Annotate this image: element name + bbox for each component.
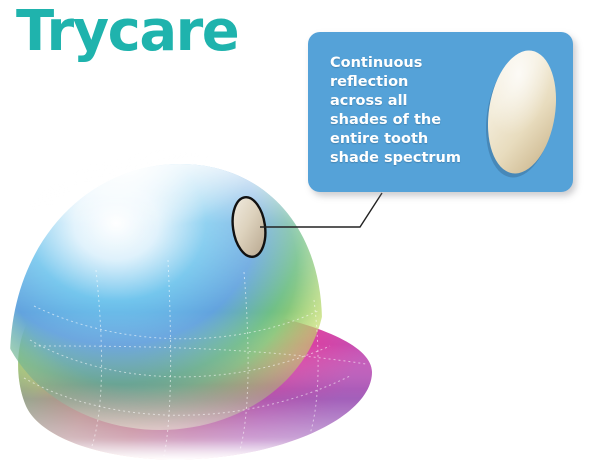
callout-panel: Continuous reflection across all shades … [308, 32, 573, 192]
callout-text: Continuous reflection across all shades … [330, 54, 480, 168]
surface-sample-marker [228, 193, 270, 261]
gamut-upper-dome [10, 150, 322, 433]
poster-canvas: Trycare [0, 0, 600, 471]
brand-logo: Trycare [16, 4, 238, 60]
tooth-shade-oval-icon [476, 42, 568, 182]
surface-sample-ellipse-icon [228, 193, 270, 261]
tooth-shade-sample [476, 42, 568, 182]
